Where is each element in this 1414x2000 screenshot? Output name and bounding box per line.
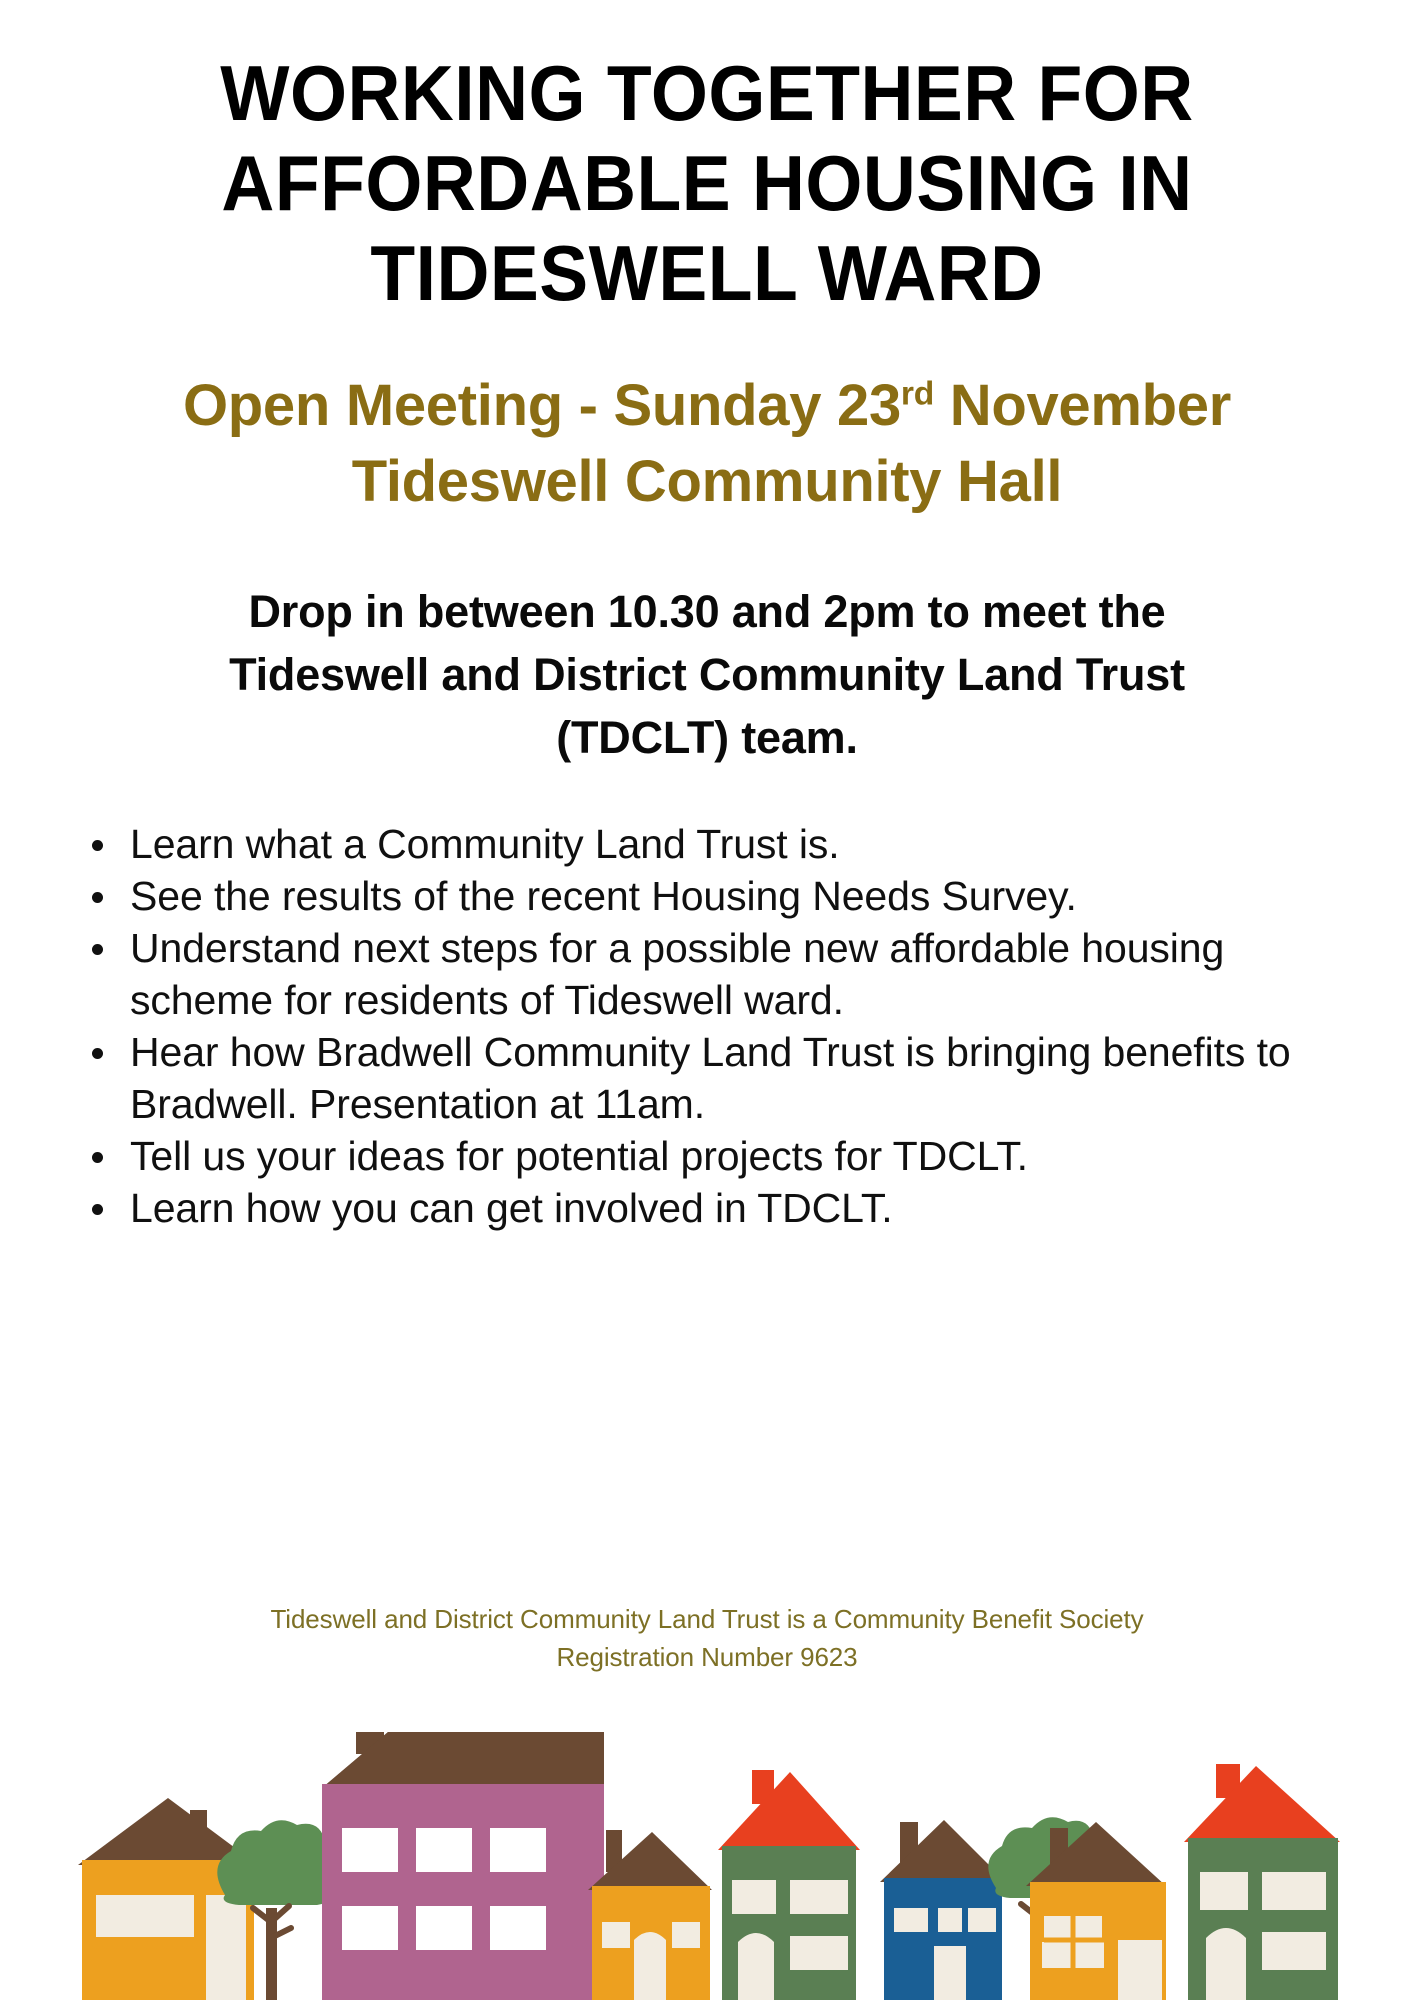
title-line-1: WORKING TOGETHER FOR (127, 48, 1287, 138)
title-line-3: TIDESWELL WARD (127, 228, 1287, 318)
poster-lead-paragraph: Drop in between 10.30 and 2pm to meet th… (60, 580, 1354, 769)
footnote-line-1: Tideswell and District Community Land Tr… (60, 1600, 1354, 1638)
subtitle-ordinal-suffix: rd (901, 376, 934, 413)
purple-townhouse-icon (322, 1732, 604, 2000)
title-line-2: AFFORDABLE HOUSING IN (127, 138, 1287, 228)
registration-footnote: Tideswell and District Community Land Tr… (60, 1600, 1354, 1676)
poster-canvas: WORKING TOGETHER FOR AFFORDABLE HOUSING … (0, 0, 1414, 2000)
subtitle-month: November (934, 373, 1231, 438)
list-item: Learn how you can get involved in TDCLT. (78, 1182, 1338, 1234)
lead-line-3: (TDCLT) team. (60, 706, 1354, 769)
houses-illustration (0, 1710, 1414, 2000)
subtitle-line-2: Tideswell Community Hall (60, 444, 1354, 520)
benefits-bullet-list: Learn what a Community Land Trust is. Se… (78, 818, 1338, 1234)
list-item: Understand next steps for a possible new… (78, 922, 1338, 1026)
blue-house-icon (880, 1820, 1006, 2000)
list-item: Hear how Bradwell Community Land Trust i… (78, 1026, 1338, 1130)
list-item: Learn what a Community Land Trust is. (78, 818, 1338, 870)
footnote-line-2: Registration Number 9623 (60, 1638, 1354, 1676)
green-house-red-roof-2-icon (1184, 1764, 1340, 2000)
poster-title: WORKING TOGETHER FOR AFFORDABLE HOUSING … (90, 48, 1324, 318)
green-house-red-roof-icon (718, 1770, 860, 2000)
subtitle-date-prefix: Open Meeting - Sunday 23 (183, 373, 901, 438)
orange-cottage-icon (588, 1830, 712, 2000)
lead-line-1: Drop in between 10.30 and 2pm to meet th… (60, 580, 1354, 643)
list-item: Tell us your ideas for potential project… (78, 1130, 1338, 1182)
subtitle-line-1: Open Meeting - Sunday 23rd November (60, 368, 1354, 444)
poster-subtitle: Open Meeting - Sunday 23rd November Tide… (60, 368, 1354, 520)
list-item: See the results of the recent Housing Ne… (78, 870, 1338, 922)
lead-line-2: Tideswell and District Community Land Tr… (60, 643, 1354, 706)
